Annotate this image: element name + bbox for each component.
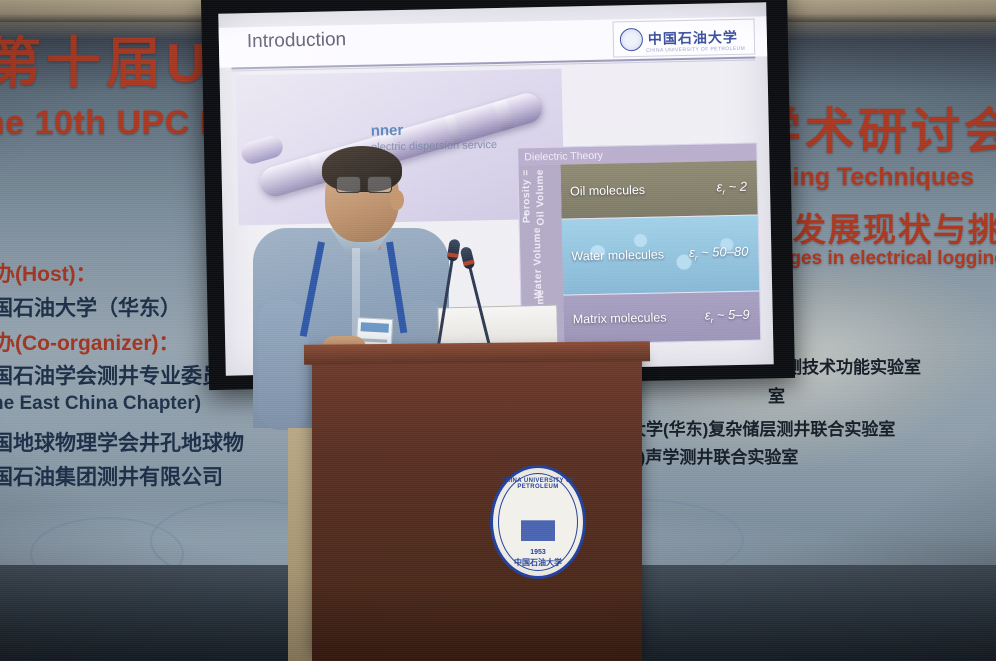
plus-label: + — [521, 211, 532, 218]
university-logo: 中国石油大学 CHINA UNIVERSITY OF PETROLEUM — [613, 19, 756, 58]
podium-top-surface — [304, 341, 650, 365]
slide-title: Introduction — [247, 29, 347, 53]
banner-subtitle-chinese: 术发展现状与挑战 — [758, 203, 996, 251]
oil-volume-label: Oil Volume — [535, 169, 547, 226]
speaker-arm-left — [258, 300, 308, 430]
row-label: Oil molecules — [570, 183, 645, 199]
banner-coorganizer-2: 国地球物理学会井孔地球物 — [0, 427, 244, 457]
table-row: Matrix molecules εr ~ 5–9 — [563, 291, 760, 343]
row-epsilon: εr ~ 50–80 — [689, 244, 749, 263]
badge-text-line — [361, 338, 387, 342]
banner-right-lab-3: 油大学(华东)复杂储层测井联合实验室 — [612, 415, 895, 440]
tool-caption: nner — [371, 122, 404, 140]
emblem-figure-icon — [521, 503, 555, 541]
banner-coorganizer-3: 国石油集团测井有限公司 — [0, 461, 223, 491]
eyeglass-lens-right — [367, 176, 392, 193]
banner-title-english-right: gging Techniques — [762, 163, 974, 192]
emblem-chinese-text: 中国石油大学 — [493, 557, 583, 568]
university-logo-english: CHINA UNIVERSITY OF PETROLEUM — [646, 46, 745, 54]
dielectric-rows: Oil molecules εr ~ 2 Water molecules εr … — [561, 161, 761, 344]
badge-header-bar — [361, 322, 389, 332]
podium: CHINA UNIVERSITY OF PETROLEUM 1953 中国石油大… — [312, 355, 642, 661]
row-label: Water molecules — [571, 248, 664, 264]
row-epsilon: εr ~ 5–9 — [705, 307, 750, 326]
speaker-ear — [390, 190, 404, 210]
banner-host-label: 办(Host)： — [0, 258, 97, 288]
row-epsilon: εr ~ 2 — [716, 179, 747, 197]
emblem-english-text: CHINA UNIVERSITY OF PETROLEUM — [493, 478, 583, 490]
banner-subtitle-english: lenges in electrical logging — [762, 248, 996, 270]
banner-right-lab-2: 室 — [768, 382, 785, 407]
eyeglass-lens-left — [336, 176, 361, 193]
banner-host-name: 国石油大学（华东） — [0, 292, 181, 322]
tool-nose — [239, 133, 285, 166]
tool-joint — [493, 99, 515, 132]
banner-coorganizer-1: 国石油学会测井专业委员 — [0, 360, 223, 390]
podium-emblem: CHINA UNIVERSITY OF PETROLEUM 1953 中国石油大… — [490, 465, 586, 579]
banner-coorganizer-label: 办(Co-organizer)： — [0, 327, 180, 357]
university-seal-icon — [620, 27, 643, 50]
banner-title-english-left: he 10th UPC I — [0, 104, 210, 143]
presentation-photo: 第十届U he 10th UPC I 学术研讨会 gging Technique… — [0, 0, 996, 661]
table-row: Oil molecules εr ~ 2 — [561, 161, 758, 220]
emblem-year: 1953 — [493, 549, 583, 556]
row-label: Matrix molecules — [573, 310, 667, 326]
eyeglasses — [336, 176, 392, 192]
banner-title-chinese-left: 第十届U — [0, 18, 211, 98]
banner-coorganizer-1-en: he East China Chapter) — [0, 393, 201, 415]
table-row: Water molecules εr ~ 50–80 — [562, 215, 760, 295]
